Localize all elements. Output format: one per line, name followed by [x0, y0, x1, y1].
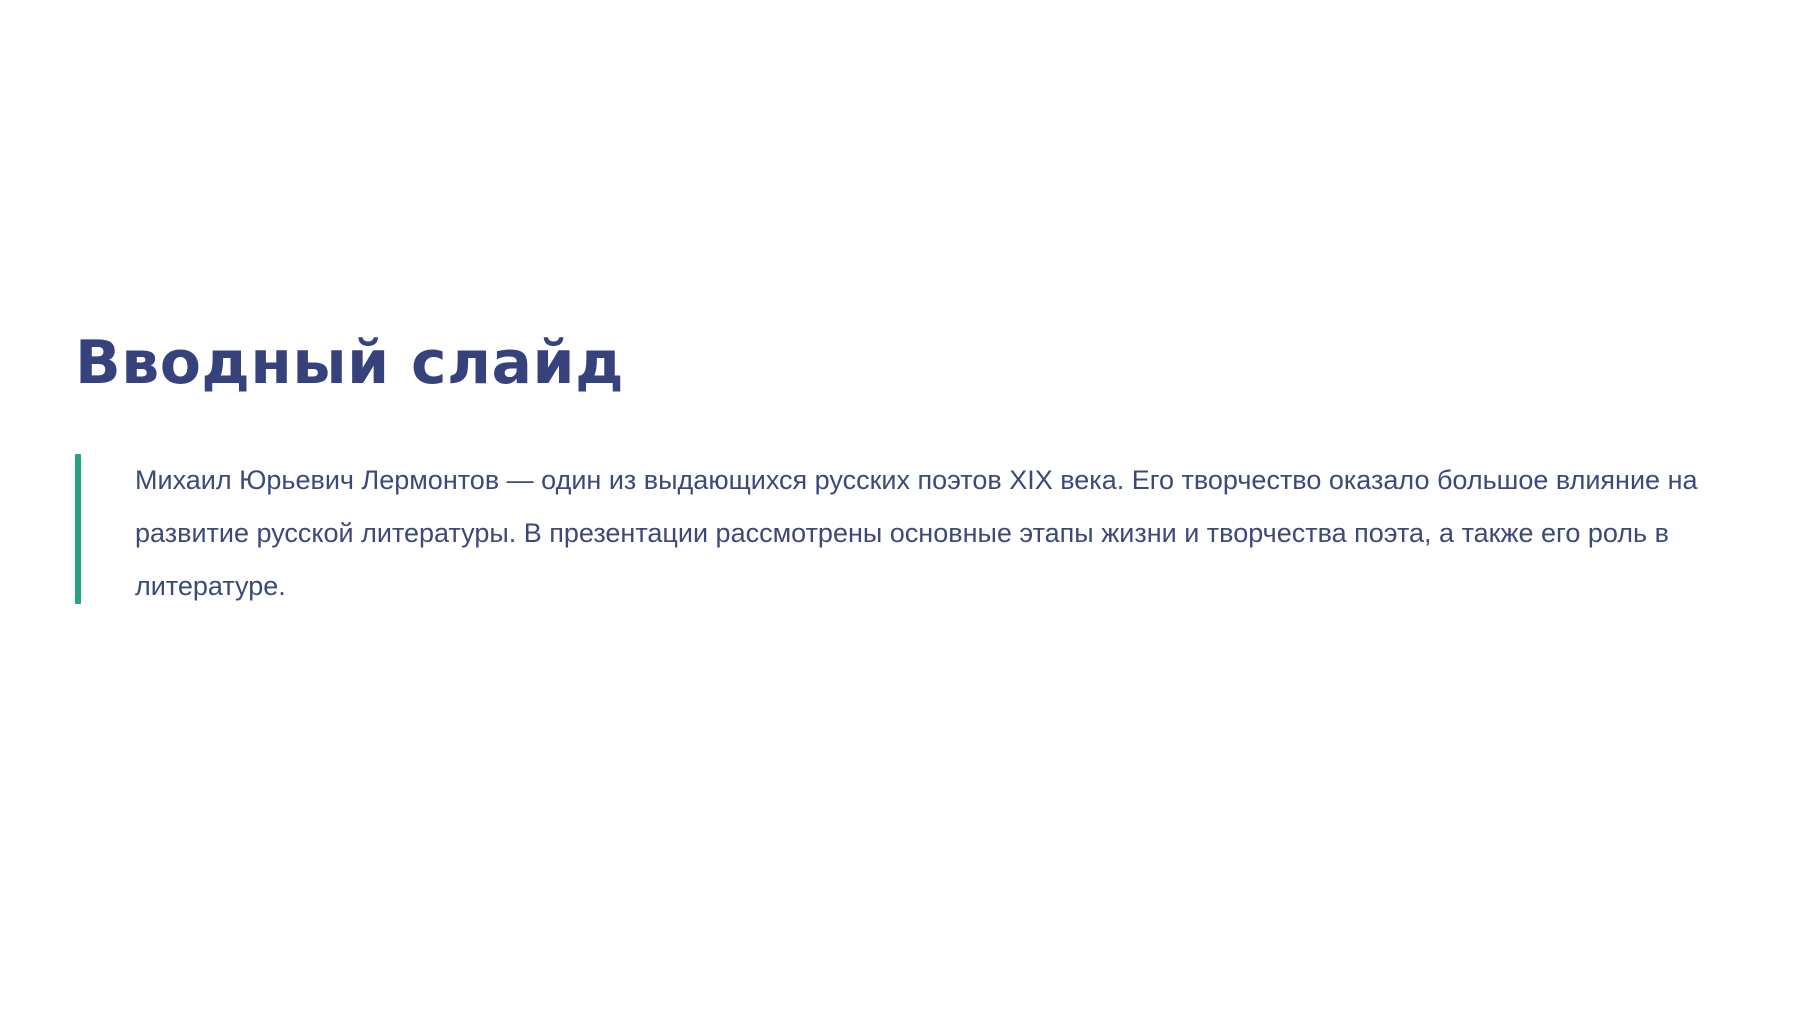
accent-bar — [75, 454, 81, 604]
slide-content: Вводный слайд Михаил Юрьевич Лермонтов —… — [75, 330, 1735, 613]
page-title: Вводный слайд — [75, 330, 1735, 397]
body-paragraph: Михаил Юрьевич Лермонтов — один из выдаю… — [135, 454, 1710, 613]
body-block: Михаил Юрьевич Лермонтов — один из выдаю… — [75, 454, 1735, 613]
presentation-slide: Вводный слайд Михаил Юрьевич Лермонтов —… — [0, 0, 1800, 1013]
